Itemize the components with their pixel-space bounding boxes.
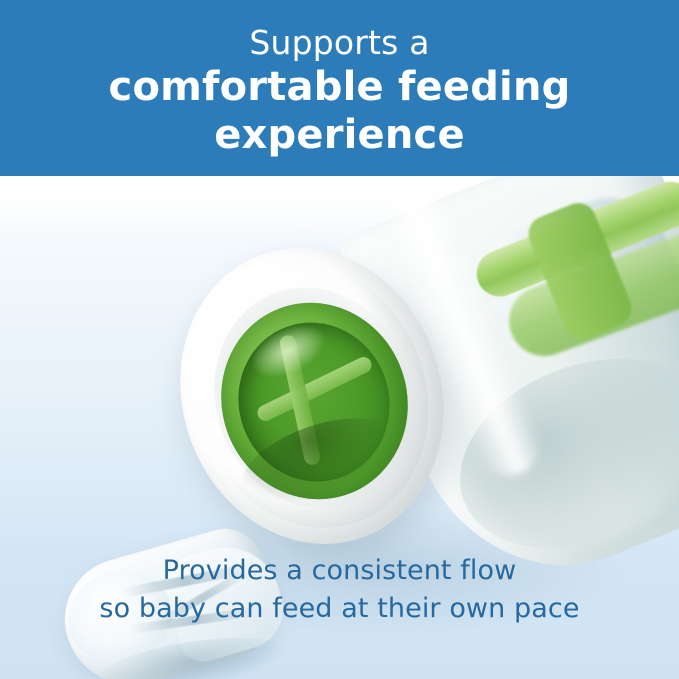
headline-line-3: experience [214,111,465,159]
caption-block: Provides a consistent flow so baby can f… [0,552,679,628]
caption-line-2: so baby can feed at their own pace [0,590,679,628]
headline-line-1: Supports a [249,22,429,63]
caption-line-1: Provides a consistent flow [0,552,679,590]
headline-line-2: comfortable feeding [109,63,571,111]
headline-banner: Supports a comfortable feeding experienc… [0,0,679,176]
product-feature-card: Supports a comfortable feeding experienc… [0,0,679,679]
